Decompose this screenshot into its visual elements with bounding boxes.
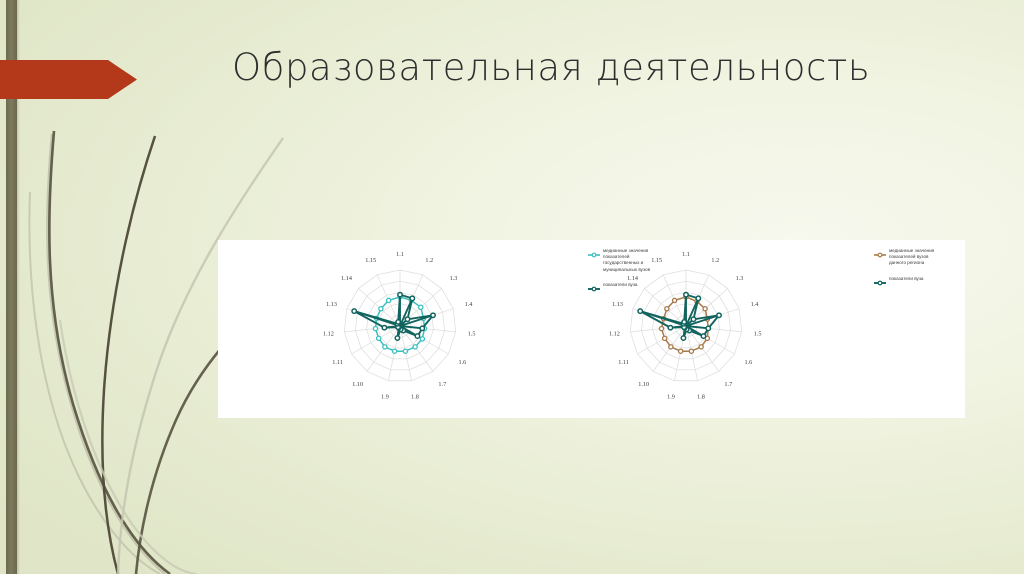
legend-item[interactable]: медианные значения показателей вузов дан… [874, 248, 966, 267]
axis-label: 1.13 [326, 301, 337, 308]
axis-label: 1.10 [638, 381, 649, 388]
legend-label: показатели вуза [889, 276, 924, 282]
axis-label: 1.6 [745, 359, 753, 366]
axis-label: 1.2 [425, 257, 433, 264]
legend-item[interactable]: показатели вуза [874, 276, 966, 286]
axis-label: 1.15 [365, 257, 376, 264]
axis-label: 1.9 [667, 393, 675, 400]
line-marker-icon [874, 252, 886, 258]
legend-right: медианные значения показателей вузов дан… [874, 248, 966, 295]
axis-label: 1.7 [724, 381, 732, 388]
legend-label: медианные значения показателей вузов дан… [889, 248, 934, 267]
axis-label: 1.3 [450, 275, 458, 282]
charts-panel: 1.11.21.31.41.51.61.71.81.91.101.111.121… [218, 240, 965, 418]
axis-label: 1.12 [323, 331, 334, 338]
axis-label: 1.7 [438, 381, 446, 388]
axis-label: 1.8 [411, 393, 419, 400]
axis-label: 1.1 [682, 251, 690, 258]
axis-label: 1.11 [332, 359, 343, 366]
axis-label: 1.4 [751, 301, 759, 308]
axis-label: 1.1 [396, 251, 404, 258]
axis-label: 1.10 [352, 381, 363, 388]
charts-row: 1.11.21.31.41.51.61.71.81.91.101.111.121… [218, 240, 965, 418]
axis-label: 1.14 [627, 275, 638, 282]
title-arrow-banner [0, 60, 137, 99]
axis-label: 1.12 [609, 331, 620, 338]
axis-label: 1.11 [618, 359, 629, 366]
slide-canvas: Образовательная деятельность 1.11.21.31.… [0, 0, 1024, 574]
axis-label: 1.13 [612, 301, 623, 308]
axis-label: 1.4 [465, 301, 473, 308]
radar-chart-left[interactable]: 1.11.21.31.41.51.61.71.81.91.101.111.121… [300, 240, 610, 418]
axis-label: 1.9 [381, 393, 389, 400]
axis-label: 1.3 [736, 275, 744, 282]
axis-label: 1.5 [754, 331, 762, 338]
radar-chart-right[interactable]: 1.11.21.31.41.51.61.71.81.91.101.111.121… [586, 240, 896, 418]
axis-label: 1.15 [651, 257, 662, 264]
page-title: Образовательная деятельность [232, 48, 992, 89]
axis-label: 1.14 [341, 275, 352, 282]
axis-label: 1.8 [697, 393, 705, 400]
axis-label: 1.5 [468, 331, 476, 338]
axis-label: 1.6 [459, 359, 467, 366]
axis-label: 1.2 [711, 257, 719, 264]
line-marker-icon [874, 280, 886, 286]
